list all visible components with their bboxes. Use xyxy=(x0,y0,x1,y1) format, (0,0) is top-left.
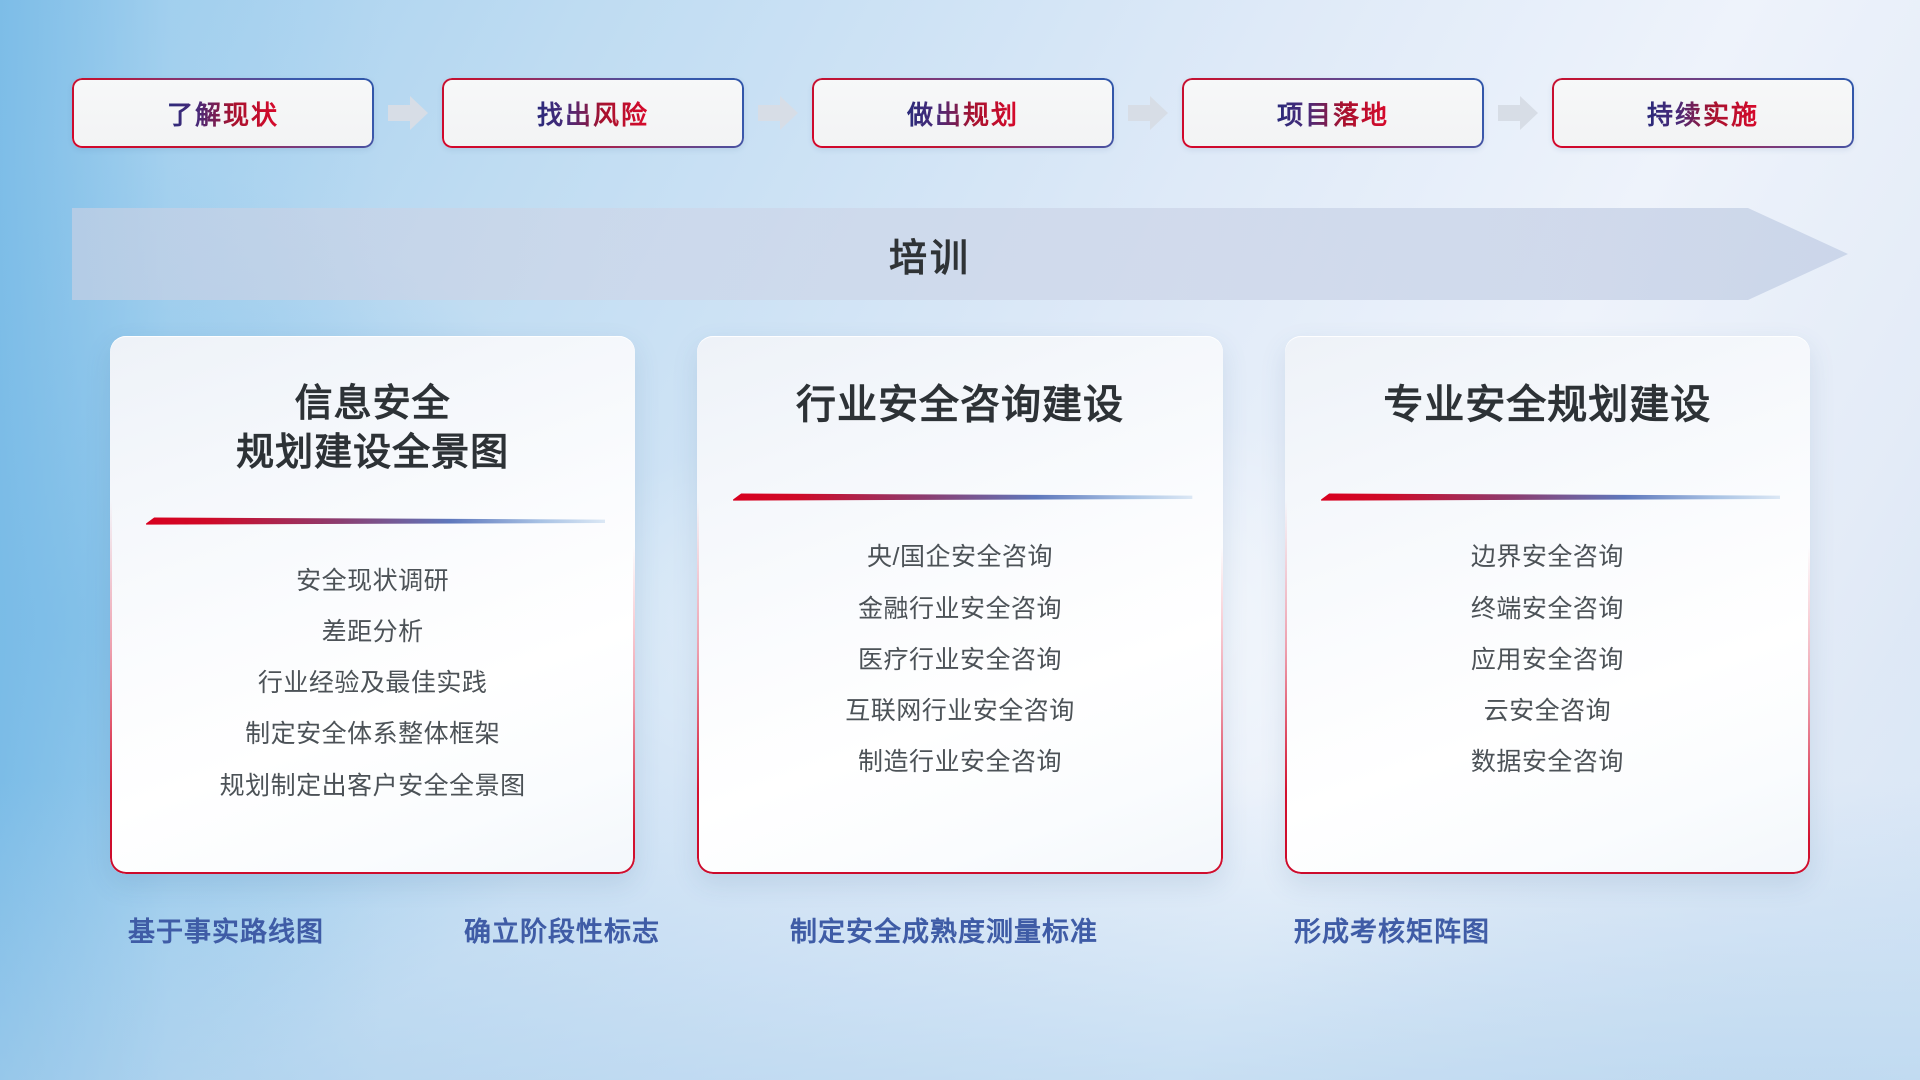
card-list-item: 数据安全咨询 xyxy=(1471,737,1624,788)
process-steps: 了解现状找出风险做出规划项目落地持续实施 xyxy=(72,78,1848,148)
training-arrow-band: 培训 xyxy=(72,208,1848,300)
card-list-item: 互联网行业安全咨询 xyxy=(845,686,1075,737)
gradient-rule-icon xyxy=(140,514,605,530)
chevron-right-arrow-icon xyxy=(1128,96,1168,130)
gradient-rule-icon xyxy=(727,490,1192,506)
service-card-3[interactable]: 专业安全规划建设边界安全咨询终端安全咨询应用安全咨询云安全咨询数据安全咨询 xyxy=(1285,336,1810,874)
caption-label-1: 基于事实路线图 xyxy=(128,910,324,949)
card-list-item: 应用安全咨询 xyxy=(1471,635,1624,686)
card-title: 信息安全 规划建设全景图 xyxy=(140,380,605,477)
step-connector-arrow xyxy=(1484,78,1552,148)
card-list-item: 制造行业安全咨询 xyxy=(858,737,1062,788)
card-item-list: 央/国企安全咨询金融行业安全咨询医疗行业安全咨询互联网行业安全咨询制造行业安全咨… xyxy=(727,532,1192,788)
gradient-rule-icon xyxy=(1315,490,1780,506)
card-list-item: 终端安全咨询 xyxy=(1471,584,1624,635)
card-list-item: 央/国企安全咨询 xyxy=(867,532,1053,583)
card-inner: 信息安全 规划建设全景图安全现状调研差距分析行业经验及最佳实践制定安全体系整体框… xyxy=(110,336,635,874)
card-list-item: 安全现状调研 xyxy=(296,556,449,607)
caption-label-2: 确立阶段性标志 xyxy=(464,910,660,949)
caption-row: 基于事实路线图确立阶段性标志制定安全成熟度测量标准形成考核矩阵图 xyxy=(0,910,1920,962)
step-pill-2[interactable]: 找出风险 xyxy=(442,78,744,148)
step-connector-arrow xyxy=(744,78,812,148)
caption-label-4: 形成考核矩阵图 xyxy=(1294,910,1490,949)
card-inner: 行业安全咨询建设央/国企安全咨询金融行业安全咨询医疗行业安全咨询互联网行业安全咨… xyxy=(697,336,1222,874)
card-divider-rule xyxy=(1315,490,1780,506)
card-list-item: 行业经验及最佳实践 xyxy=(258,658,488,709)
card-list-item: 规划制定出客户安全全景图 xyxy=(220,761,526,812)
card-inner: 专业安全规划建设边界安全咨询终端安全咨询应用安全咨询云安全咨询数据安全咨询 xyxy=(1285,336,1810,874)
card-list-item: 差距分析 xyxy=(322,607,424,658)
card-list-item: 医疗行业安全咨询 xyxy=(858,635,1062,686)
card-row: 信息安全 规划建设全景图安全现状调研差距分析行业经验及最佳实践制定安全体系整体框… xyxy=(110,336,1810,874)
service-card-1[interactable]: 信息安全 规划建设全景图安全现状调研差距分析行业经验及最佳实践制定安全体系整体框… xyxy=(110,336,635,874)
card-list-item: 云安全咨询 xyxy=(1484,686,1612,737)
chevron-right-arrow-icon xyxy=(1498,96,1538,130)
card-title: 专业安全规划建设 xyxy=(1315,380,1780,431)
step-pill-label: 了解现状 xyxy=(167,95,279,132)
step-pill-label: 找出风险 xyxy=(537,95,649,132)
card-divider-rule xyxy=(140,514,605,530)
chevron-right-arrow-icon xyxy=(388,96,428,130)
caption-label-3: 制定安全成熟度测量标准 xyxy=(790,910,1098,949)
step-pill-label: 做出规划 xyxy=(907,95,1019,132)
step-pill-label: 持续实施 xyxy=(1647,95,1759,132)
card-title: 行业安全咨询建设 xyxy=(727,380,1192,431)
card-list-item: 金融行业安全咨询 xyxy=(858,584,1062,635)
step-connector-arrow xyxy=(1114,78,1182,148)
card-item-list: 安全现状调研差距分析行业经验及最佳实践制定安全体系整体框架规划制定出客户安全全景… xyxy=(140,556,605,812)
step-pill-1[interactable]: 了解现状 xyxy=(72,78,374,148)
step-pill-4[interactable]: 项目落地 xyxy=(1182,78,1484,148)
step-pill-5[interactable]: 持续实施 xyxy=(1552,78,1854,148)
chevron-right-arrow-icon xyxy=(758,96,798,130)
card-divider-rule xyxy=(727,490,1192,506)
step-pill-3[interactable]: 做出规划 xyxy=(812,78,1114,148)
step-connector-arrow xyxy=(374,78,442,148)
service-card-2[interactable]: 行业安全咨询建设央/国企安全咨询金融行业安全咨询医疗行业安全咨询互联网行业安全咨… xyxy=(697,336,1222,874)
card-item-list: 边界安全咨询终端安全咨询应用安全咨询云安全咨询数据安全咨询 xyxy=(1315,532,1780,788)
card-list-item: 边界安全咨询 xyxy=(1471,532,1624,583)
card-list-item: 制定安全体系整体框架 xyxy=(245,709,500,760)
step-pill-label: 项目落地 xyxy=(1277,95,1389,132)
training-title: 培训 xyxy=(72,208,1848,300)
